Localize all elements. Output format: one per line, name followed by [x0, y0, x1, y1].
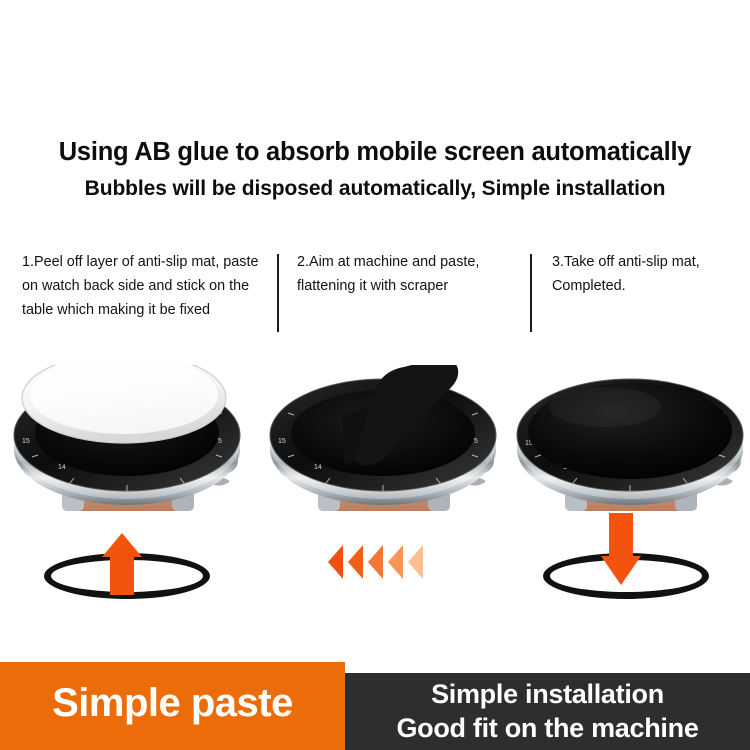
- step-1-text: 1.Peel off layer of anti-slip mat, paste…: [22, 250, 270, 322]
- arrow-down-icon: [601, 513, 641, 585]
- illustration-row: 15 14 10 5: [0, 365, 750, 630]
- svg-text:5: 5: [474, 438, 478, 445]
- headline-block: Using AB glue to absorb mobile screen au…: [0, 136, 750, 204]
- page-title: Using AB glue to absorb mobile screen au…: [0, 136, 750, 168]
- step-2-text: 2.Aim at machine and paste, flattening i…: [297, 250, 522, 298]
- smartwatch-with-scraper-icon: 15 14 10 5: [258, 365, 508, 575]
- illustration-step-1: 15 14 10 5: [2, 365, 252, 630]
- svg-text:14: 14: [314, 464, 322, 471]
- banner-orange-label: Simple paste: [0, 662, 345, 750]
- svg-text:5: 5: [218, 438, 222, 445]
- banner-orange-block: Simple paste: [0, 662, 345, 750]
- banner-dark-labels: Simple installation Good fit on the mach…: [345, 673, 750, 750]
- banner-dark-line-2: Good fit on the machine: [396, 712, 698, 745]
- step-divider-2: [530, 254, 532, 332]
- svg-text:14: 14: [58, 464, 66, 471]
- instruction-steps: 1.Peel off layer of anti-slip mat, paste…: [0, 250, 750, 360]
- svg-text:15: 15: [22, 438, 30, 445]
- arrow-up-icon: [102, 533, 142, 595]
- step-divider-1: [277, 254, 279, 332]
- banner-dark-line-1: Simple installation: [431, 678, 664, 711]
- illustration-step-2: 15 14 10 5: [258, 365, 508, 630]
- chevrons-left-icon: [328, 545, 448, 579]
- svg-text:15: 15: [278, 438, 286, 445]
- banner-dark-block: Simple installation Good fit on the mach…: [345, 673, 750, 750]
- step-3-text: 3.Take off anti-slip mat, Completed.: [552, 250, 742, 298]
- illustration-step-3: 15 14 10 5: [505, 365, 750, 630]
- page-subtitle: Bubbles will be disposed automatically, …: [0, 174, 750, 204]
